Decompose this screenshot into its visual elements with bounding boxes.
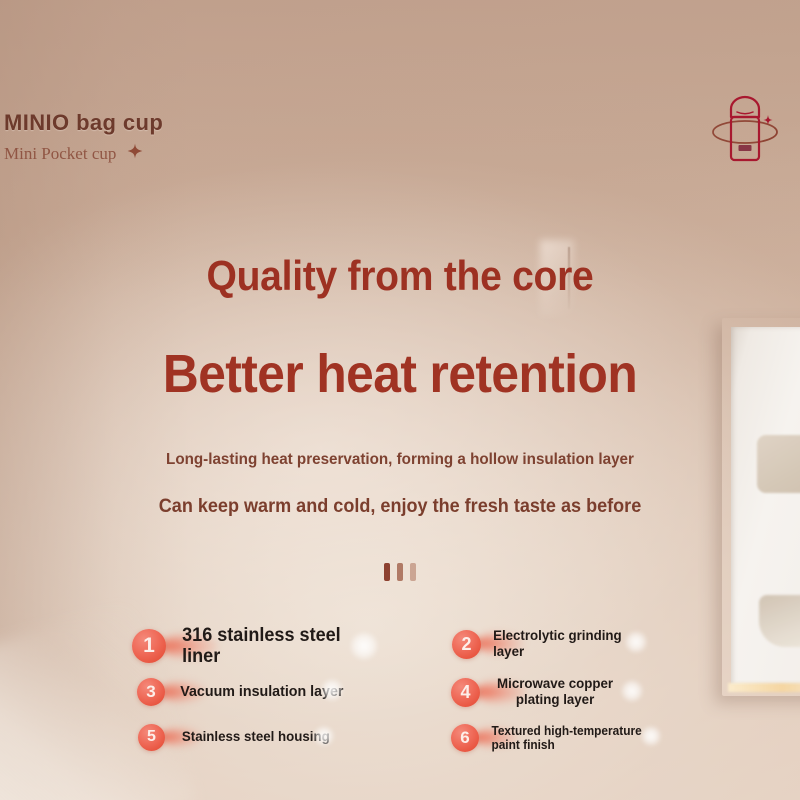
list-item-label: Stainless steel housing [182, 729, 330, 745]
feature-list: 1 316 stainless steel liner 3 Vacuum ins… [0, 0, 800, 800]
status-badge: 5 [138, 724, 165, 751]
list-item-label: Vacuum insulation layer [180, 684, 343, 701]
pill-sheen [350, 632, 378, 660]
pill-sheen [314, 726, 334, 746]
list-item[interactable]: 2 Electrolytic grinding layer [452, 627, 652, 661]
pill-sheen [641, 726, 661, 746]
list-item[interactable]: 4 Microwave copper plating layer [451, 670, 651, 714]
status-badge: 4 [451, 678, 480, 707]
status-badge: 2 [452, 630, 481, 659]
product-poster: MINIO bag cup Mini Pocket cup Quality fr… [0, 0, 800, 800]
list-item[interactable]: 5 Stainless steel housing [138, 721, 342, 753]
status-badge: 1 [132, 629, 166, 663]
list-item-label: Textured high-temperature paint finish [491, 724, 660, 752]
list-item[interactable]: 6 Textured high-temperature paint finish [451, 722, 665, 754]
pill-sheen [321, 679, 343, 701]
list-item[interactable]: 1 316 stainless steel liner [132, 626, 382, 666]
list-item-label: 316 stainless steel liner [182, 625, 377, 668]
list-item-label: Microwave copper plating layer [497, 676, 613, 707]
pill-sheen [621, 680, 643, 702]
status-badge: 3 [137, 678, 165, 706]
status-badge: 6 [451, 724, 479, 752]
pill-sheen [625, 631, 647, 653]
list-item[interactable]: 3 Vacuum insulation layer [137, 675, 349, 709]
